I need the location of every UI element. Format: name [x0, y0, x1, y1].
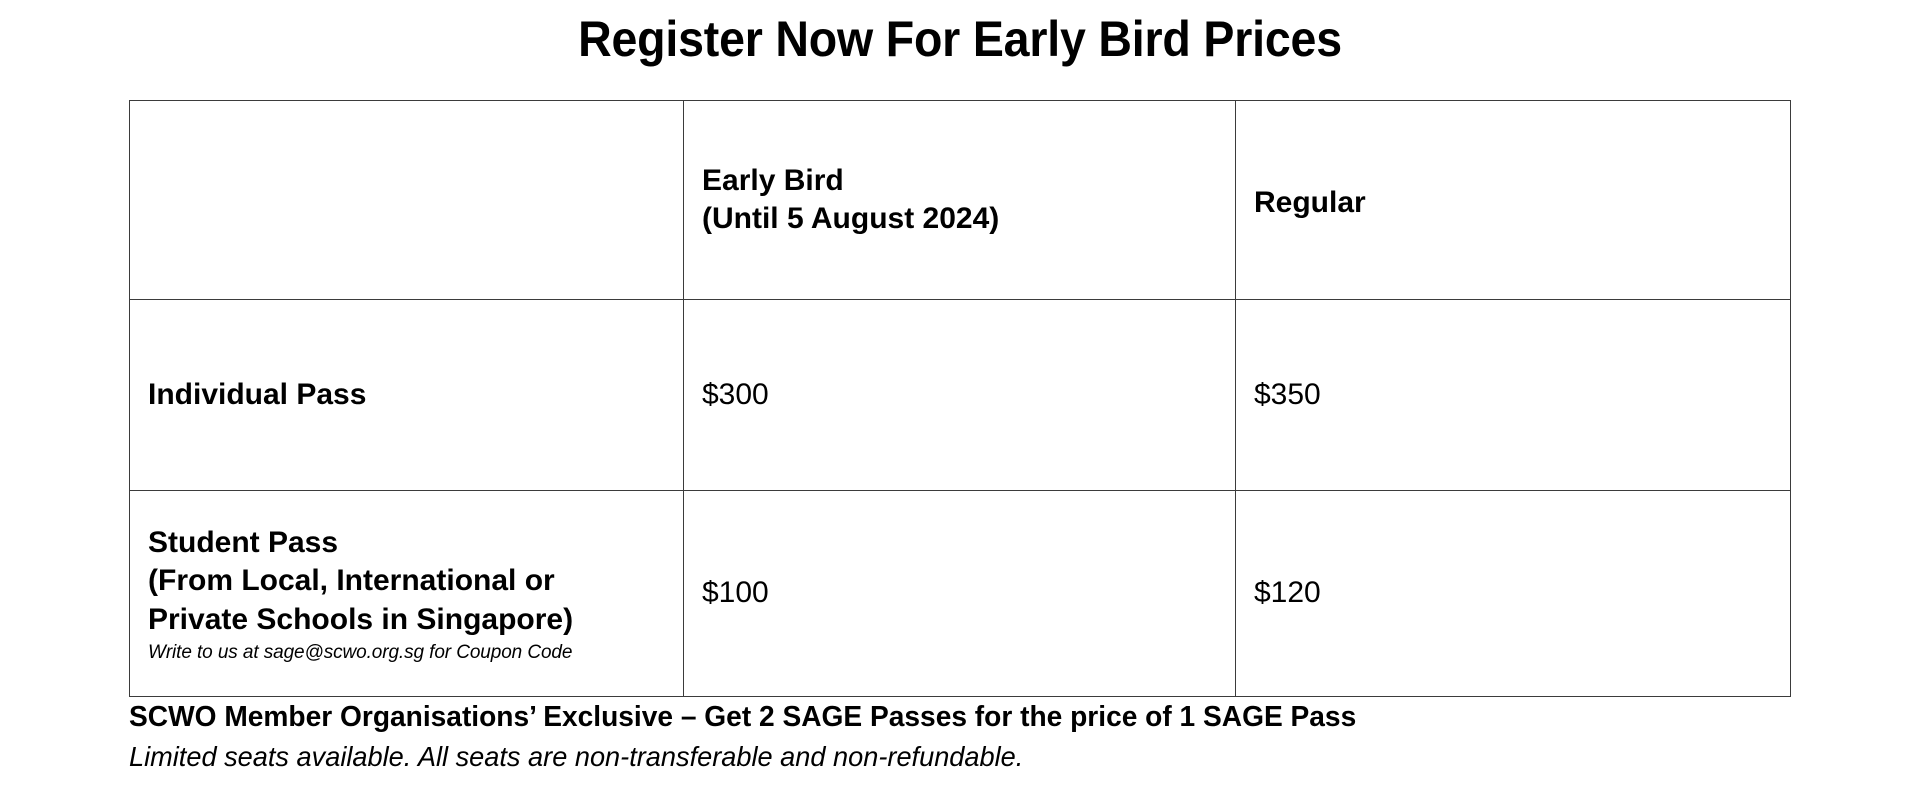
price-individual-early-bird: $300: [684, 300, 1236, 491]
student-label-lines: Student Pass (From Local, International …: [148, 522, 665, 665]
header-cell-empty: [130, 101, 684, 300]
pricing-poster: Register Now For Early Bird Prices Early…: [0, 0, 1920, 800]
footer-notes: SCWO Member Organisations’ Exclusive – G…: [129, 697, 1829, 777]
price-student-regular: $120: [1236, 491, 1791, 697]
table-row: Individual Pass $300 $350: [130, 300, 1791, 491]
header-cell-regular: Regular: [1236, 101, 1791, 300]
footer-disclaimer: Limited seats available. All seats are n…: [129, 737, 1778, 777]
student-label-line3: Private Schools in Singapore): [148, 603, 573, 636]
price-student-early-bird: $100: [684, 491, 1236, 697]
footer-member-offer: SCWO Member Organisations’ Exclusive – G…: [129, 697, 1778, 737]
page-title: Register Now For Early Bird Prices: [67, 8, 1853, 70]
header-early-bird-line2: (Until 5 August 2024): [702, 202, 999, 235]
row-label-individual-pass: Individual Pass: [130, 300, 684, 491]
student-label-line2: (From Local, International or: [148, 564, 555, 597]
pricing-table: Early Bird (Until 5 August 2024) Regular…: [129, 100, 1791, 697]
student-label-line1: Student Pass: [148, 526, 338, 559]
student-coupon-note: Write to us at sage@scwo.org.sg for Coup…: [148, 641, 665, 665]
header-early-bird-line1: Early Bird: [702, 164, 844, 197]
table-header-row: Early Bird (Until 5 August 2024) Regular: [130, 101, 1791, 300]
table-row: Student Pass (From Local, International …: [130, 491, 1791, 697]
row-label-student-pass: Student Pass (From Local, International …: [130, 491, 684, 697]
price-individual-regular: $350: [1236, 300, 1791, 491]
header-cell-early-bird: Early Bird (Until 5 August 2024): [684, 101, 1236, 300]
